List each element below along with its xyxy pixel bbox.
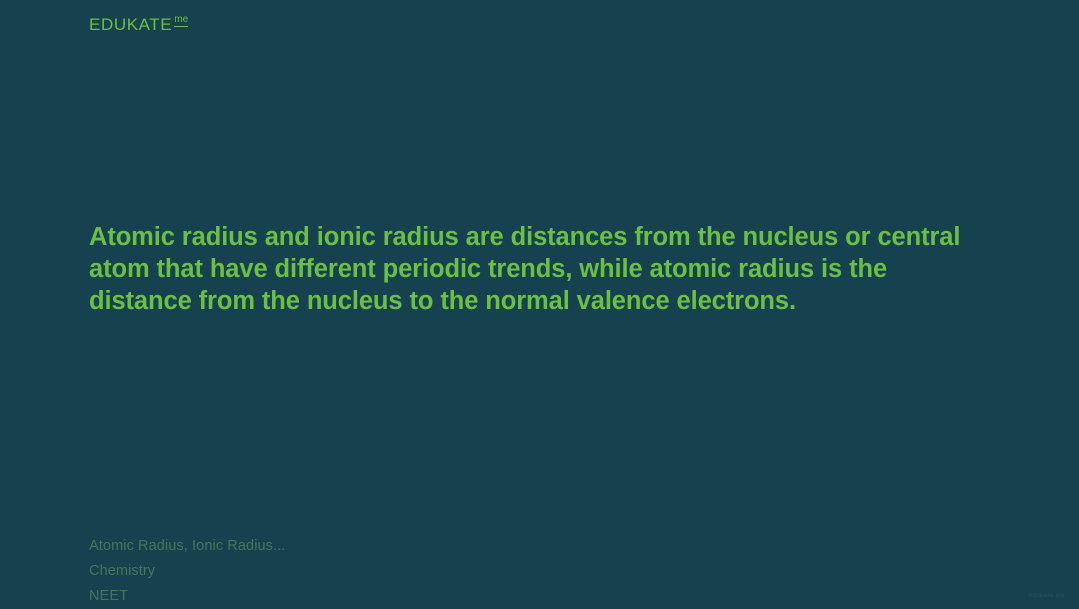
brand-logo-superscript: me — [174, 15, 188, 27]
watermark-label: edukate.me — [1029, 593, 1065, 599]
footer-topic: Atomic Radius, Ionic Radius... — [89, 534, 285, 559]
footer-subject: Chemistry — [89, 559, 285, 584]
brand-logo[interactable]: EDUKATE me — [89, 16, 188, 33]
slide-canvas: EDUKATE me Atomic radius and ionic radiu… — [0, 0, 1079, 607]
footer-exam: NEET — [89, 584, 285, 609]
slide-footer-meta: Atomic Radius, Ionic Radius... Chemistry… — [89, 534, 285, 609]
slide-headline: Atomic radius and ionic radius are dista… — [89, 221, 979, 318]
brand-logo-wordmark: EDUKATE — [89, 16, 172, 33]
